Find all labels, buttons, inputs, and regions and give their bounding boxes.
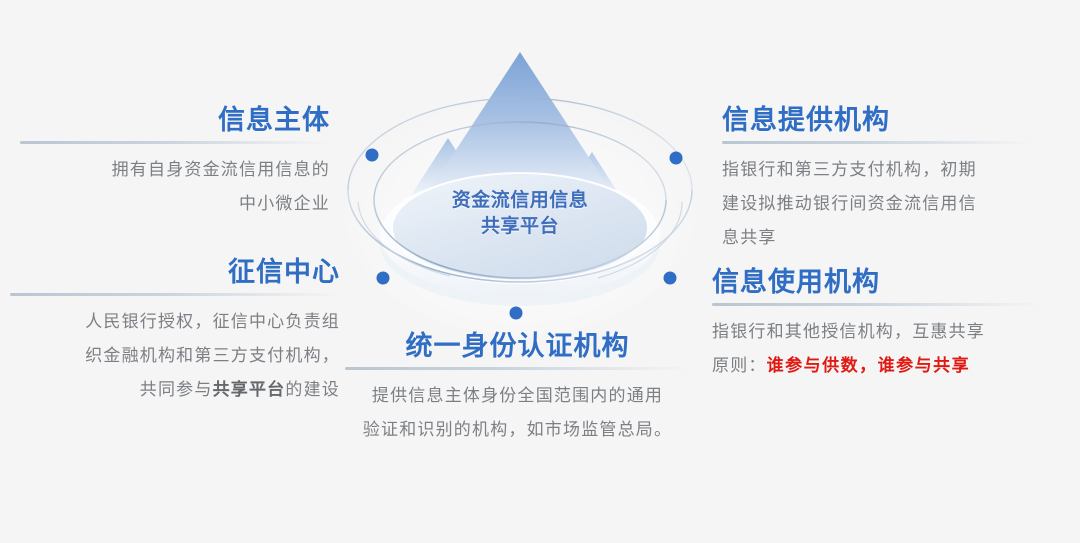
body-emphasis: 共享平台 [213,380,286,399]
body-line: 中小微企业 [20,187,330,221]
body-text: 共同参与 [140,380,213,399]
central-platform-graphic [330,30,710,340]
block-information-user: 信息使用机构 指银行和其他授信机构，互惠共享 原则：谁参与供数，谁参与共享 [712,266,1042,383]
block-unified-identity-authentication: 统一身份认证机构 提供信息主体身份全国范围内的通用 验证和识别的机构，如市场监管… [345,330,690,447]
block-body-unified-identity-authentication: 提供信息主体身份全国范围内的通用 验证和识别的机构，如市场监管总局。 [345,379,690,447]
block-body-information-user: 指银行和其他授信机构，互惠共享 原则：谁参与供数，谁参与共享 [712,315,1042,383]
block-information-provider: 信息提供机构 指银行和第三方支付机构，初期 建设拟推动银行间资金流信用信 息共享 [722,104,1032,255]
body-line: 指银行和其他授信机构，互惠共享 [712,315,1042,349]
body-line: 验证和识别的机构，如市场监管总局。 [345,413,690,447]
block-body-information-subject: 拥有自身资金流信用信息的 中小微企业 [20,153,330,221]
title-underline [10,293,340,296]
body-line: 共同参与共享平台的建设 [10,373,340,407]
body-line: 建设拟推动银行间资金流信用信 [722,187,1032,221]
title-underline [712,303,1042,306]
body-line: 原则：谁参与供数，谁参与共享 [712,349,1042,383]
body-line: 提供信息主体身份全国范围内的通用 [345,379,690,413]
block-title-information-subject: 信息主体 [20,104,330,136]
body-line: 织金融机构和第三方支付机构， [10,339,340,373]
block-title-credit-reference-center: 征信中心 [10,256,340,288]
title-underline [345,367,690,370]
block-title-information-user: 信息使用机构 [712,266,1042,298]
block-body-information-provider: 指银行和第三方支付机构，初期 建设拟推动银行间资金流信用信 息共享 [722,153,1032,255]
block-title-information-provider: 信息提供机构 [722,104,1032,136]
block-title-unified-identity-authentication: 统一身份认证机构 [345,330,690,362]
body-text: 的建设 [285,380,340,399]
body-highlight-principle: 谁参与供数，谁参与共享 [767,356,971,375]
body-line: 指银行和第三方支付机构，初期 [722,153,1032,187]
infographic-canvas: 资金流信用信息 共享平台 信息主体 拥有自身资金流信用信息的 中小微企业 征信中… [0,0,1080,543]
block-body-credit-reference-center: 人民银行授权，征信中心负责组 织金融机构和第三方支付机构， 共同参与共享平台的建… [10,305,340,407]
block-credit-reference-center: 征信中心 人民银行授权，征信中心负责组 织金融机构和第三方支付机构， 共同参与共… [10,256,340,407]
title-underline [722,141,1032,144]
body-line: 息共享 [722,221,1032,255]
body-line: 拥有自身资金流信用信息的 [20,153,330,187]
title-underline [20,141,330,144]
platform-label-line2: 共享平台 [330,214,710,240]
platform-center-label: 资金流信用信息 共享平台 [330,188,710,240]
platform-label-line1: 资金流信用信息 [330,188,710,214]
body-line: 人民银行授权，征信中心负责组 [10,305,340,339]
body-text: 原则： [712,356,767,375]
block-information-subject: 信息主体 拥有自身资金流信用信息的 中小微企业 [20,104,330,221]
